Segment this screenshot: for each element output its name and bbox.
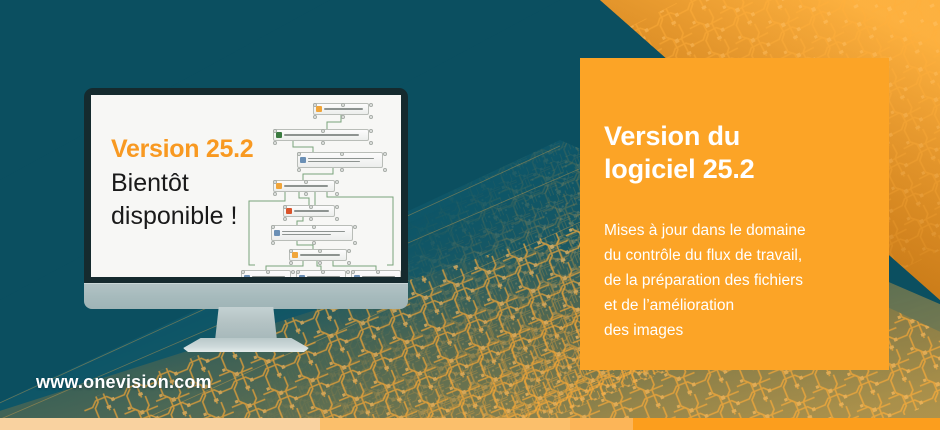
- workflow-node-label-line: [307, 276, 340, 277]
- workflow-node-icon: [300, 157, 306, 163]
- workflow-node[interactable]: [297, 152, 383, 168]
- workflow-node-label: [300, 254, 346, 255]
- panel-title: Version dulogiciel 25.2: [604, 120, 874, 186]
- workflow-node-label-line: [308, 161, 360, 162]
- workflow-node-port[interactable]: [296, 270, 301, 275]
- workflow-node-icon: [299, 275, 305, 277]
- workflow-node-label-line: [282, 231, 345, 232]
- workflow-node-icon: [276, 183, 282, 189]
- workflow-node-port[interactable]: [241, 270, 246, 275]
- workflow-node-label: [324, 108, 368, 109]
- segment-1: [0, 418, 320, 430]
- workflow-node-icon: [276, 132, 282, 138]
- bottom-stripe: [0, 418, 940, 430]
- workflow-node[interactable]: [351, 270, 401, 277]
- workflow-node-label: [308, 158, 382, 162]
- workflow-node[interactable]: [313, 103, 369, 115]
- screen-subline-2: disponible !: [111, 200, 237, 233]
- workflow-node-label: [362, 276, 400, 277]
- workflow-node[interactable]: [273, 180, 335, 192]
- workflow-node-label-line: [324, 108, 363, 109]
- panel-body-line: et de l’amélioration: [604, 297, 734, 314]
- panel-body-line: des images: [604, 322, 683, 339]
- workflow-node-icon: [354, 275, 360, 277]
- workflow-node-label-line: [284, 185, 328, 186]
- panel-body-line: de la préparation des fichiers: [604, 272, 803, 289]
- workflow-node-port[interactable]: [340, 152, 345, 157]
- workflow-node-port[interactable]: [266, 270, 271, 275]
- workflow-node-port[interactable]: [341, 103, 346, 108]
- workflow-node[interactable]: [289, 249, 347, 261]
- workflow-node[interactable]: [271, 225, 353, 241]
- screen-subline: Bientôt disponible !: [111, 167, 237, 233]
- panel-body: Mises à jour dans le domainedu contrôle …: [604, 218, 880, 343]
- screen-headline: Version 25.2: [111, 135, 253, 164]
- workflow-node-icon: [292, 252, 298, 258]
- workflow-node[interactable]: [241, 270, 291, 277]
- workflow-node-label: [252, 276, 290, 277]
- workflow-node-label-line: [308, 158, 374, 159]
- workflow-node-port[interactable]: [321, 129, 326, 134]
- workflow-node-label-line: [284, 134, 359, 135]
- workflow-node-label: [307, 276, 345, 277]
- workflow-node-port[interactable]: [321, 270, 326, 275]
- monitor-screen: Version 25.2 Bientôt disponible !: [91, 95, 401, 277]
- segment-3: [570, 418, 633, 430]
- workflow-node[interactable]: [296, 270, 346, 277]
- monitor-bezel: Version 25.2 Bientôt disponible !: [84, 88, 408, 284]
- panel-body-line: Mises à jour dans le domaine: [604, 222, 806, 239]
- segment-2: [320, 418, 570, 430]
- workflow-node-port[interactable]: [309, 205, 314, 210]
- workflow-node-label-line: [282, 234, 331, 235]
- monitor-chin: [84, 283, 408, 309]
- panel-body-line: du contrôle du flux de travail,: [604, 247, 802, 264]
- workflow-node-label: [284, 134, 368, 135]
- workflow-node-port[interactable]: [304, 180, 309, 185]
- workflow-node[interactable]: [273, 129, 369, 141]
- workflow-node-port[interactable]: [297, 152, 302, 157]
- workflow-node-port[interactable]: [351, 270, 356, 275]
- workflow-node-port[interactable]: [312, 225, 317, 230]
- workflow-node-label-line: [294, 210, 329, 211]
- workflow-node-port[interactable]: [318, 249, 323, 254]
- workflow-node-icon: [316, 106, 322, 112]
- workflow-node-port[interactable]: [376, 270, 381, 275]
- workflow-node-label: [282, 231, 352, 235]
- workflow-node-label-line: [300, 254, 340, 255]
- desktop-monitor: Version 25.2 Bientôt disponible !: [84, 88, 408, 308]
- workflow-node-label: [294, 210, 334, 211]
- workflow-node-label-line: [362, 276, 395, 277]
- segment-4: [633, 418, 940, 430]
- workflow-diagram: [241, 97, 401, 277]
- monitor-stand-base: [183, 338, 309, 352]
- workflow-node-icon: [274, 230, 280, 236]
- workflow-node-icon: [244, 275, 250, 277]
- workflow-node-label: [284, 185, 334, 186]
- panel-title-line: logiciel 25.2: [604, 154, 754, 184]
- website-url[interactable]: www.onevision.com: [36, 372, 212, 393]
- workflow-node[interactable]: [283, 205, 335, 217]
- release-panel: Version dulogiciel 25.2 Mises à jour dan…: [580, 58, 889, 370]
- panel-title-line: Version du: [604, 121, 740, 151]
- workflow-node-label-line: [252, 276, 285, 277]
- workflow-node-icon: [286, 208, 292, 214]
- screen-subline-1: Bientôt: [111, 167, 237, 200]
- banner-stage: Version 25.2 Bientôt disponible !: [0, 0, 940, 430]
- workflow-node-port[interactable]: [271, 225, 276, 230]
